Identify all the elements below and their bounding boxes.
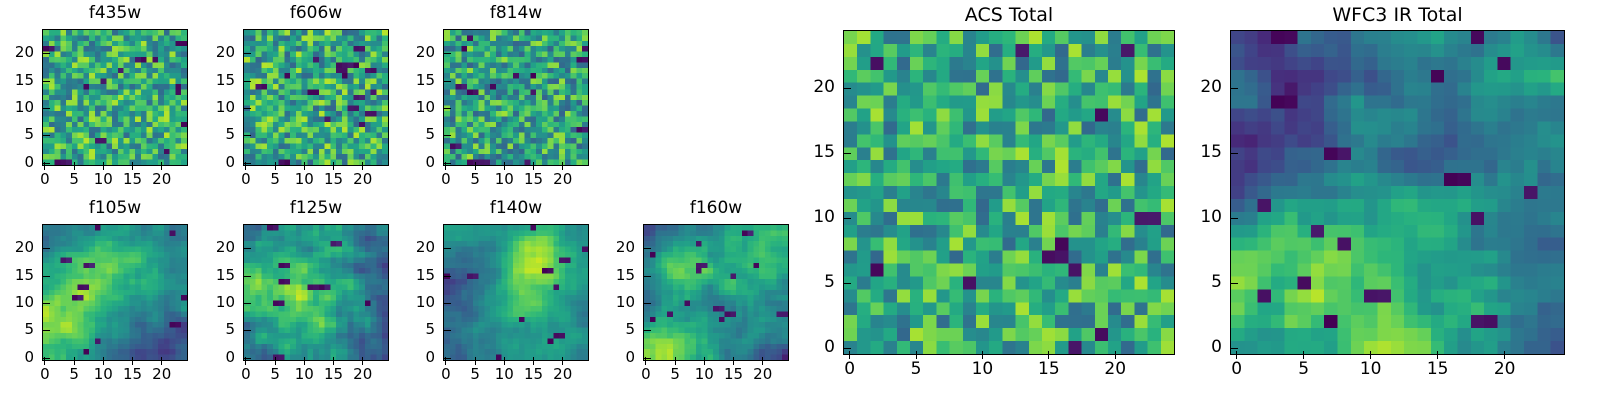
y-tick-mark [42, 303, 50, 304]
y-tick-label: 0 [783, 339, 835, 356]
panel-f140w: f140w0510152005101520 [383, 198, 599, 395]
x-tick-mark [1115, 351, 1116, 359]
y-tick-mark [243, 163, 251, 164]
x-tick-mark [275, 162, 276, 170]
panel-f814w: f814w0510152005101520 [383, 3, 599, 200]
y-tick-label: 15 [383, 73, 435, 88]
x-tick-mark [475, 162, 476, 170]
y-tick-mark [443, 358, 451, 359]
x-tick-mark [1504, 351, 1505, 359]
panel-title-f160w: f160w [643, 200, 789, 217]
panel-acs-total: ACS Total0510152005101520 [783, 4, 1185, 389]
y-tick-mark [843, 153, 851, 154]
heatmap-image-f105w [43, 225, 187, 360]
y-tick-label: 20 [183, 45, 235, 60]
y-tick-label: 0 [183, 350, 235, 365]
x-tick-label: 5 [1279, 361, 1329, 378]
x-tick-mark [304, 162, 305, 170]
x-tick-mark [74, 357, 75, 365]
y-tick-label: 10 [383, 295, 435, 310]
y-tick-label: 10 [183, 295, 235, 310]
y-tick-label: 10 [0, 295, 34, 310]
y-tick-mark [643, 358, 651, 359]
y-tick-label: 15 [583, 268, 635, 283]
y-tick-label: 20 [583, 240, 635, 255]
y-tick-label: 5 [183, 322, 235, 337]
x-tick-label: 20 [137, 172, 187, 187]
x-tick-mark [562, 357, 563, 365]
x-tick-mark [1048, 351, 1049, 359]
y-tick-label: 15 [383, 268, 435, 283]
x-tick-label: 15 [1024, 361, 1074, 378]
x-tick-mark [333, 357, 334, 365]
y-tick-label: 0 [0, 155, 34, 170]
panel-f160w: f160w0510152005101520 [583, 198, 799, 395]
y-tick-mark [1230, 88, 1238, 89]
y-tick-label: 5 [0, 127, 34, 142]
panel-title-f435w: f435w [42, 5, 188, 22]
y-tick-label: 0 [183, 155, 235, 170]
y-tick-mark [443, 276, 451, 277]
panel-title-acs-total: ACS Total [843, 6, 1175, 25]
y-tick-label: 20 [183, 240, 235, 255]
y-tick-mark [42, 135, 50, 136]
panel-title-f125w: f125w [243, 200, 389, 217]
y-tick-mark [443, 135, 451, 136]
x-tick-label: 20 [137, 367, 187, 382]
y-tick-label: 10 [383, 100, 435, 115]
heatmap-image-f435w [43, 30, 187, 165]
heatmap-image-f140w [444, 225, 588, 360]
panel-title-wfc3-ir-total: WFC3 IR Total [1230, 6, 1565, 25]
y-tick-mark [243, 108, 251, 109]
y-tick-label: 10 [0, 100, 34, 115]
x-tick-mark [704, 357, 705, 365]
y-tick-label: 0 [583, 350, 635, 365]
x-tick-label: 10 [1346, 361, 1396, 378]
y-tick-label: 20 [783, 79, 835, 96]
panel-title-f140w: f140w [443, 200, 589, 217]
x-tick-label: 20 [338, 172, 388, 187]
panel-title-f105w: f105w [42, 200, 188, 217]
x-tick-mark [849, 351, 850, 359]
y-tick-mark [443, 303, 451, 304]
x-tick-mark [161, 162, 162, 170]
x-tick-mark [475, 357, 476, 365]
y-tick-mark [643, 303, 651, 304]
x-tick-mark [1370, 351, 1371, 359]
figure-canvas: f435w0510152005101520f606w05101520051015… [0, 0, 1600, 400]
y-tick-label: 10 [583, 295, 635, 310]
y-tick-mark [42, 108, 50, 109]
y-tick-mark [42, 163, 50, 164]
x-tick-mark [1437, 351, 1438, 359]
heatmap-image-acs-total [844, 31, 1174, 354]
y-tick-mark [243, 81, 251, 82]
x-tick-mark [916, 351, 917, 359]
x-tick-label: 20 [1090, 361, 1140, 378]
y-tick-label: 5 [383, 322, 435, 337]
y-tick-label: 5 [1170, 274, 1222, 291]
x-tick-mark [103, 357, 104, 365]
panel-f435w: f435w0510152005101520 [0, 3, 198, 200]
y-tick-mark [843, 348, 851, 349]
x-tick-mark [333, 162, 334, 170]
y-tick-mark [243, 276, 251, 277]
x-tick-mark [533, 357, 534, 365]
heatmap-image-wfc3-ir-total [1231, 31, 1564, 354]
x-tick-label: 5 [891, 361, 941, 378]
y-tick-mark [443, 108, 451, 109]
panel-title-f606w: f606w [243, 5, 389, 22]
x-tick-mark [733, 357, 734, 365]
x-tick-mark [304, 357, 305, 365]
y-tick-label: 5 [183, 127, 235, 142]
y-tick-mark [1230, 348, 1238, 349]
y-tick-label: 10 [783, 209, 835, 226]
x-tick-mark [161, 357, 162, 365]
axes-f105w [42, 224, 188, 361]
x-tick-mark [132, 162, 133, 170]
axes-f140w [443, 224, 589, 361]
axes-acs-total [843, 30, 1175, 355]
y-tick-label: 0 [1170, 339, 1222, 356]
panel-title-f814w: f814w [443, 5, 589, 22]
y-tick-label: 20 [0, 240, 34, 255]
y-tick-mark [42, 330, 50, 331]
x-tick-mark [103, 162, 104, 170]
x-tick-label: 0 [825, 361, 875, 378]
panel-f105w: f105w0510152005101520 [0, 198, 198, 395]
y-tick-mark [443, 53, 451, 54]
x-tick-mark [362, 162, 363, 170]
x-tick-mark [562, 162, 563, 170]
y-tick-label: 0 [383, 155, 435, 170]
y-tick-mark [243, 330, 251, 331]
y-tick-mark [843, 218, 851, 219]
y-tick-mark [643, 248, 651, 249]
y-tick-mark [1230, 283, 1238, 284]
heatmap-image-f814w [444, 30, 588, 165]
y-tick-label: 0 [383, 350, 435, 365]
y-tick-mark [643, 276, 651, 277]
panel-f125w: f125w0510152005101520 [183, 198, 399, 395]
y-tick-label: 0 [0, 350, 34, 365]
x-tick-label: 20 [1480, 361, 1530, 378]
panel-f606w: f606w0510152005101520 [183, 3, 399, 200]
heatmap-image-f606w [244, 30, 388, 165]
y-tick-mark [643, 330, 651, 331]
y-tick-mark [443, 81, 451, 82]
y-tick-label: 15 [0, 268, 34, 283]
axes-f125w [243, 224, 389, 361]
x-tick-mark [1236, 351, 1237, 359]
y-tick-mark [1230, 218, 1238, 219]
y-tick-label: 20 [383, 240, 435, 255]
y-tick-mark [243, 303, 251, 304]
y-tick-mark [443, 248, 451, 249]
y-tick-label: 5 [383, 127, 435, 142]
y-tick-mark [42, 276, 50, 277]
x-tick-mark [533, 162, 534, 170]
x-tick-label: 20 [338, 367, 388, 382]
x-tick-label: 20 [538, 367, 588, 382]
x-tick-mark [362, 357, 363, 365]
y-tick-label: 20 [0, 45, 34, 60]
y-tick-label: 5 [783, 274, 835, 291]
y-tick-label: 5 [0, 322, 34, 337]
y-tick-label: 20 [383, 45, 435, 60]
x-tick-label: 10 [957, 361, 1007, 378]
y-tick-mark [1230, 153, 1238, 154]
y-tick-mark [42, 53, 50, 54]
y-tick-mark [843, 283, 851, 284]
y-tick-label: 10 [183, 100, 235, 115]
axes-f606w [243, 29, 389, 166]
y-tick-label: 5 [583, 322, 635, 337]
x-tick-mark [132, 357, 133, 365]
y-tick-label: 15 [1170, 144, 1222, 161]
y-tick-label: 10 [1170, 209, 1222, 226]
axes-wfc3-ir-total [1230, 30, 1565, 355]
y-tick-label: 15 [783, 144, 835, 161]
axes-f435w [42, 29, 188, 166]
panel-wfc3-ir-total: WFC3 IR Total0510152005101520 [1170, 4, 1575, 389]
x-tick-mark [275, 357, 276, 365]
y-tick-mark [42, 358, 50, 359]
x-tick-label: 0 [1212, 361, 1262, 378]
x-tick-mark [504, 162, 505, 170]
y-tick-label: 15 [0, 73, 34, 88]
y-tick-label: 15 [183, 268, 235, 283]
axes-f814w [443, 29, 589, 166]
x-tick-mark [762, 357, 763, 365]
x-tick-mark [74, 162, 75, 170]
x-tick-mark [675, 357, 676, 365]
y-tick-label: 20 [1170, 79, 1222, 96]
x-tick-label: 20 [738, 367, 788, 382]
y-tick-mark [443, 330, 451, 331]
x-tick-label: 15 [1413, 361, 1463, 378]
heatmap-image-f125w [244, 225, 388, 360]
y-tick-mark [42, 81, 50, 82]
axes-f160w [643, 224, 789, 361]
y-tick-mark [243, 358, 251, 359]
y-tick-mark [243, 53, 251, 54]
y-tick-mark [443, 163, 451, 164]
x-tick-label: 20 [538, 172, 588, 187]
heatmap-image-f160w [644, 225, 788, 360]
x-tick-mark [1303, 351, 1304, 359]
y-tick-mark [42, 248, 50, 249]
y-tick-mark [243, 135, 251, 136]
x-tick-mark [982, 351, 983, 359]
x-tick-mark [504, 357, 505, 365]
y-tick-mark [243, 248, 251, 249]
y-tick-label: 15 [183, 73, 235, 88]
y-tick-mark [843, 88, 851, 89]
